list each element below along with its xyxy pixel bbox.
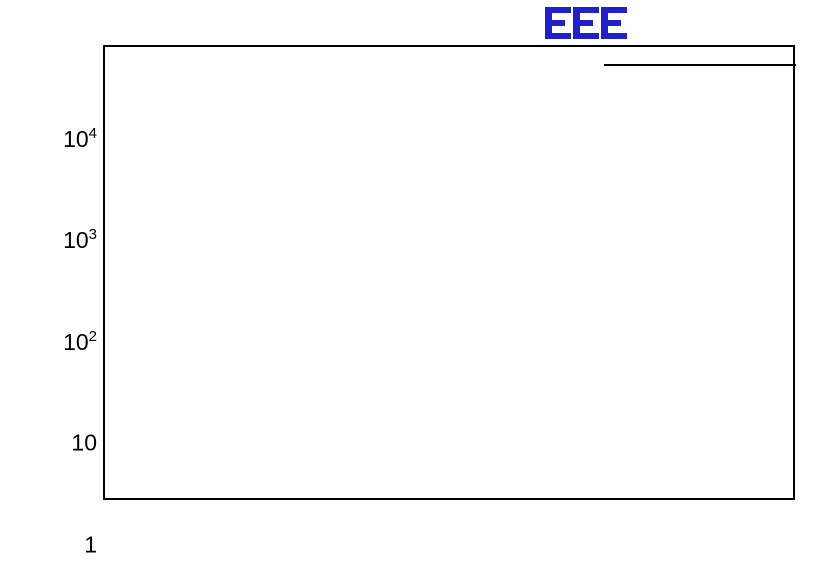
eee-logo-mark bbox=[545, 5, 627, 41]
eee-logo bbox=[545, 3, 833, 43]
plot-frame bbox=[103, 45, 795, 500]
stats-box bbox=[604, 63, 796, 67]
y-tick-label-100: 102 bbox=[63, 328, 97, 356]
histogram-canvas bbox=[105, 47, 793, 498]
y-tick-label-1: 1 bbox=[84, 532, 97, 559]
y-tick-label-10: 10 bbox=[71, 430, 97, 457]
stats-title bbox=[604, 63, 796, 66]
x-axis-labels bbox=[103, 503, 795, 537]
y-axis-labels: 1 10 102 103 104 bbox=[0, 45, 97, 500]
y-tick-label-10000: 104 bbox=[63, 125, 97, 153]
y-tick-label-1000: 103 bbox=[63, 226, 97, 254]
